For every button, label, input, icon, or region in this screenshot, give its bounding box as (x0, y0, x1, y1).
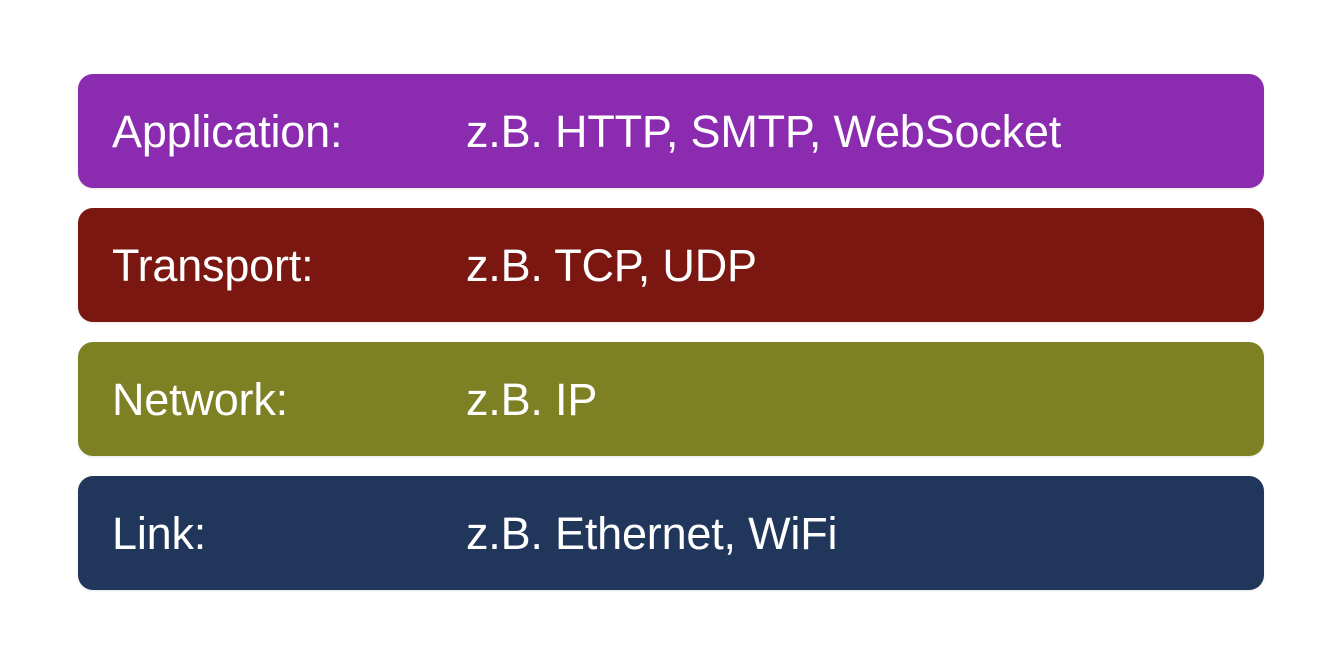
protocol-layer-examples: z.B. IP (466, 377, 597, 422)
protocol-layer-row-link: Link: z.B. Ethernet, WiFi (78, 476, 1264, 590)
protocol-layer-row-application: Application: z.B. HTTP, SMTP, WebSocket (78, 74, 1264, 188)
protocol-layer-name: Link: (112, 511, 466, 556)
protocol-layer-examples: z.B. Ethernet, WiFi (466, 511, 837, 556)
protocol-layer-row-transport: Transport: z.B. TCP, UDP (78, 208, 1264, 322)
protocol-layer-examples: z.B. TCP, UDP (466, 243, 757, 288)
protocol-stack-diagram: Application: z.B. HTTP, SMTP, WebSocket … (78, 74, 1264, 590)
protocol-layer-name: Network: (112, 377, 466, 422)
protocol-layer-name: Application: (112, 109, 466, 154)
protocol-layer-row-network: Network: z.B. IP (78, 342, 1264, 456)
protocol-layer-examples: z.B. HTTP, SMTP, WebSocket (466, 109, 1061, 154)
protocol-layer-name: Transport: (112, 243, 466, 288)
